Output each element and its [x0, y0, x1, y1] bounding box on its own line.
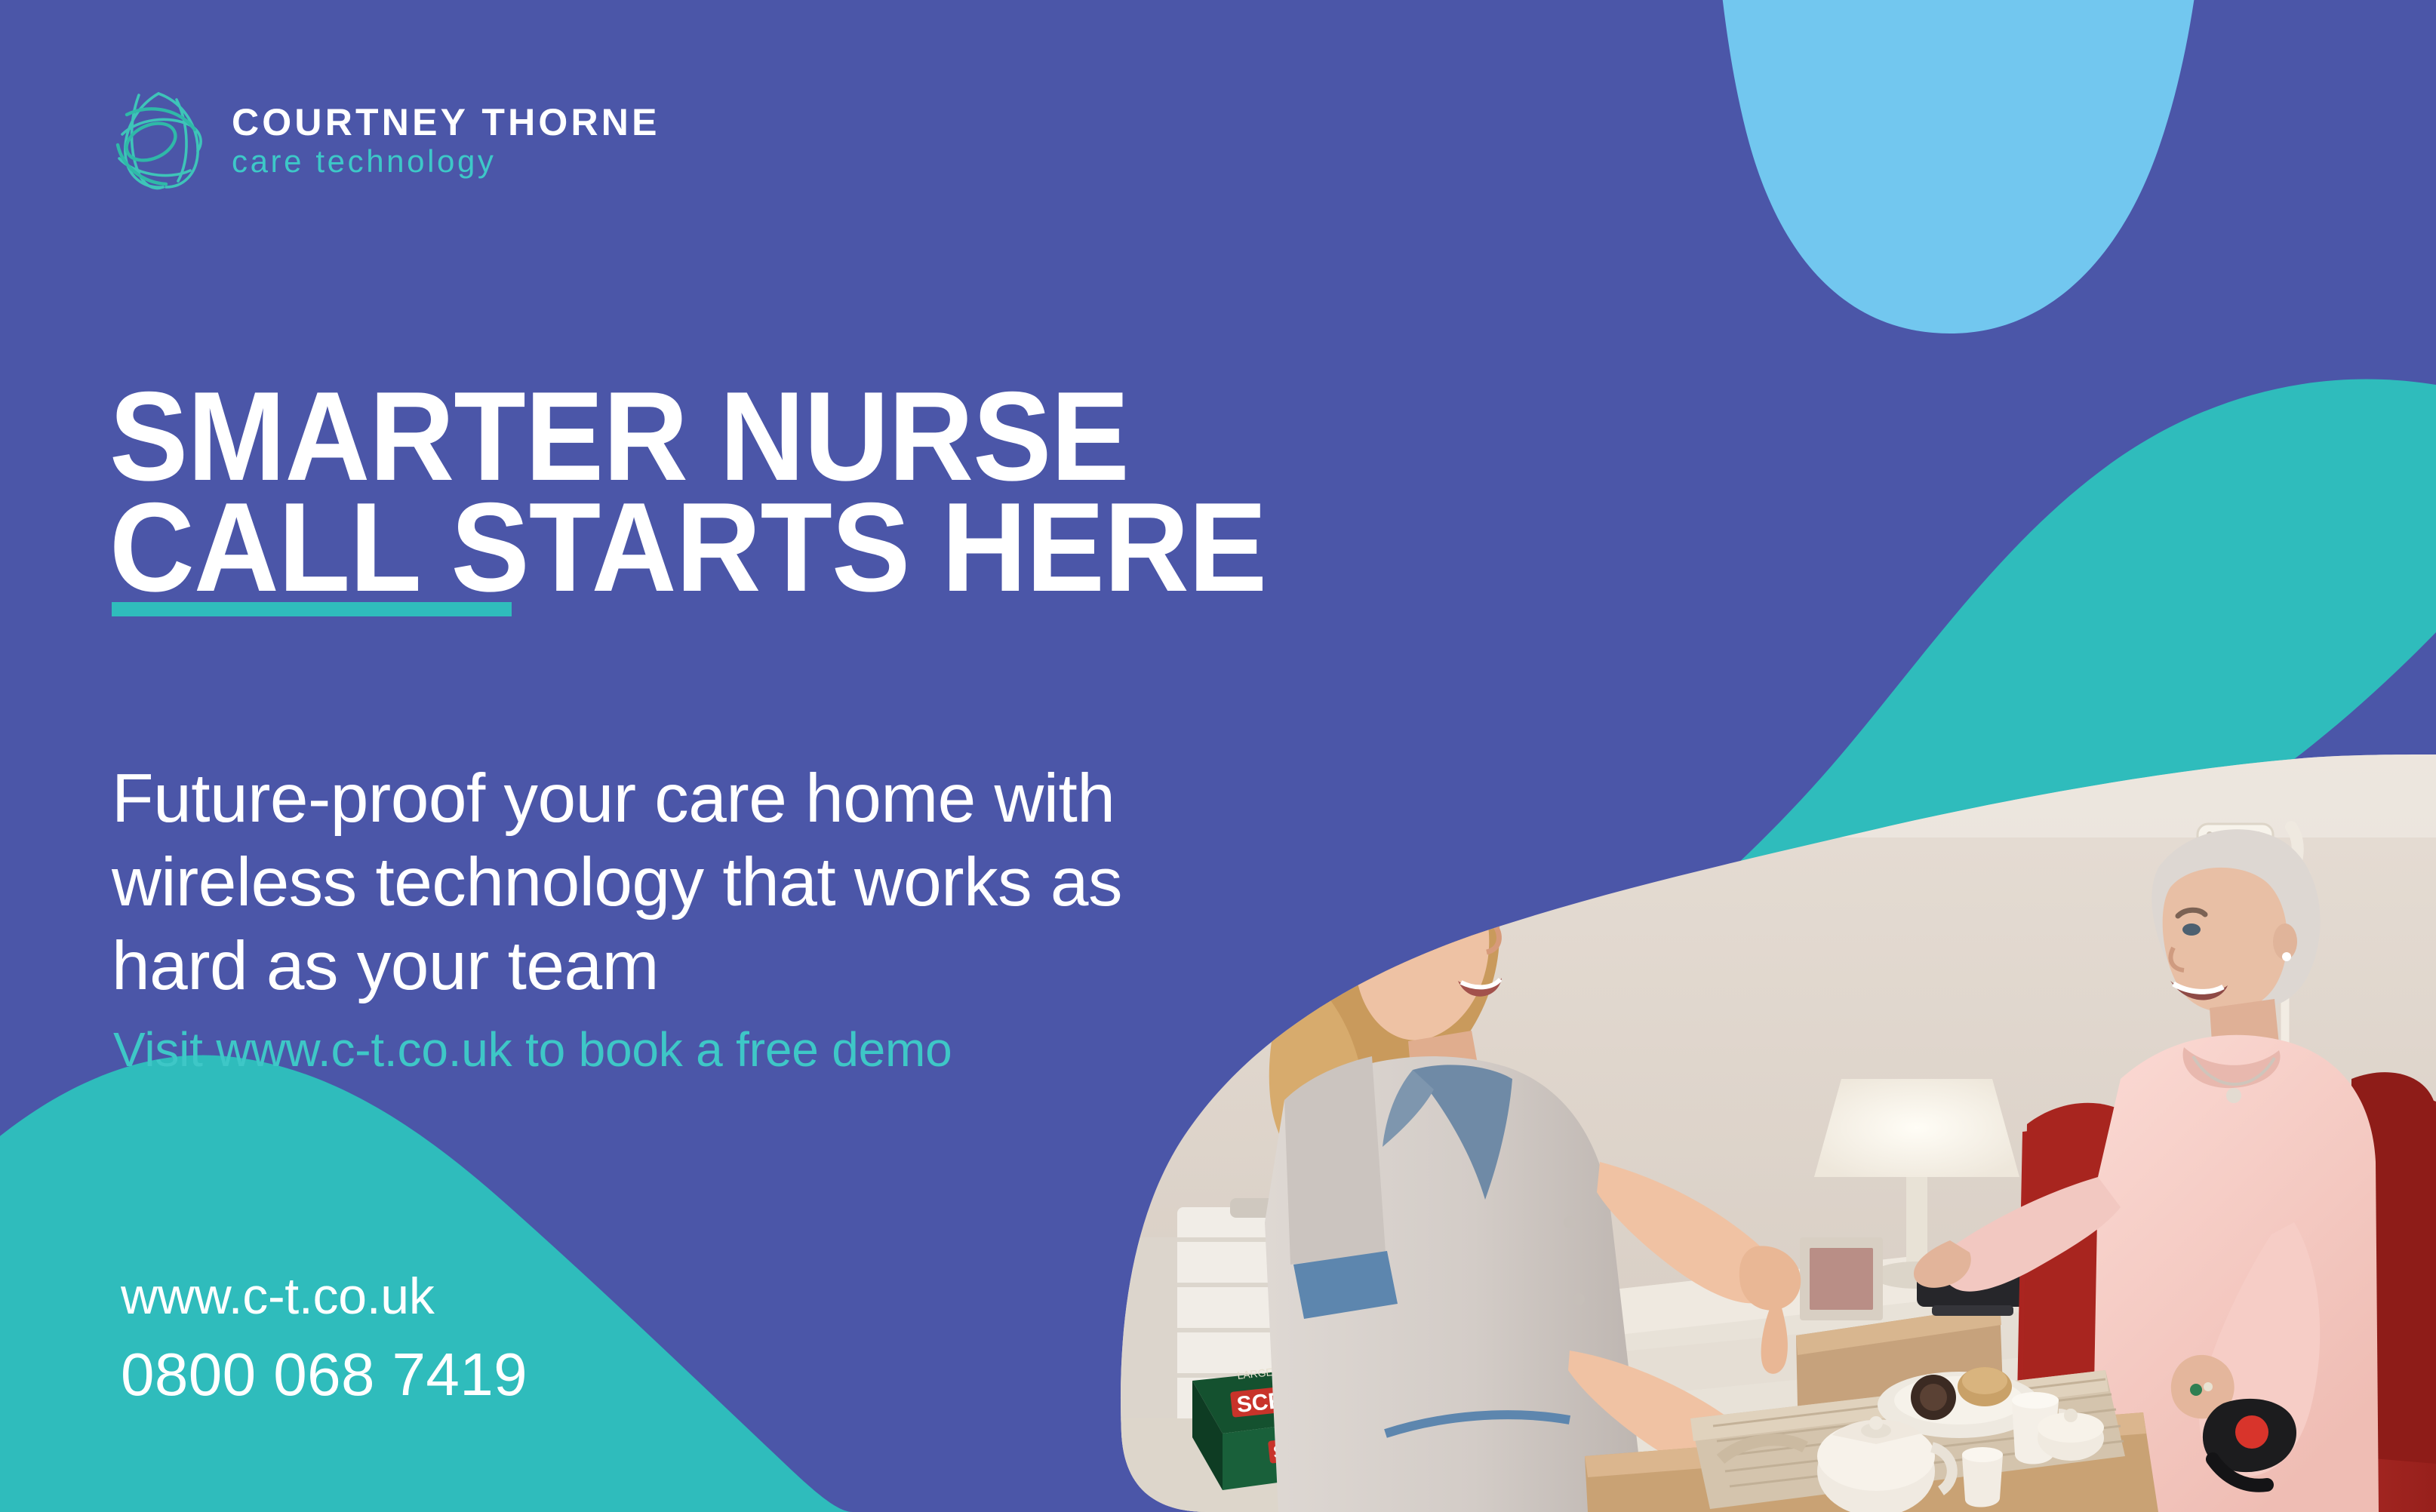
pendant-call-button: [2235, 1415, 2268, 1449]
hero-photo: SCRABBLE LARGE PRINT SCRABBLE: [1117, 754, 2436, 1512]
subheadline: Future-proof your care home with wireles…: [112, 757, 1289, 1008]
brand-name: COURTNEY THORNE: [232, 103, 660, 141]
contact-phone[interactable]: 0800 068 7419: [121, 1345, 527, 1405]
ring-stone: [2190, 1384, 2202, 1396]
contact-website[interactable]: www.c-t.co.uk: [121, 1271, 527, 1322]
picture-rail-hook: [1796, 771, 1843, 827]
picture-frame: [1800, 1237, 1883, 1320]
marketing-banner: SCRABBLE LARGE PRINT SCRABBLE: [0, 0, 2436, 1512]
globe-sphere-icon: [112, 89, 206, 191]
milk-jug: [1962, 1447, 2003, 1507]
brand-logo[interactable]: COURTNEY THORNE care technology: [112, 89, 660, 191]
accent-divider: [112, 602, 512, 616]
brand-tagline: care technology: [232, 146, 660, 177]
care-home-scene-illustration: SCRABBLE LARGE PRINT SCRABBLE: [1117, 754, 2436, 1512]
contact-block: www.c-t.co.uk 0800 068 7419: [121, 1271, 527, 1405]
page-title: SMARTER NURSE CALL STARTS HERE: [109, 381, 1408, 604]
cta-text[interactable]: Visit www.c-t.co.uk to book a free demo: [113, 1023, 952, 1076]
